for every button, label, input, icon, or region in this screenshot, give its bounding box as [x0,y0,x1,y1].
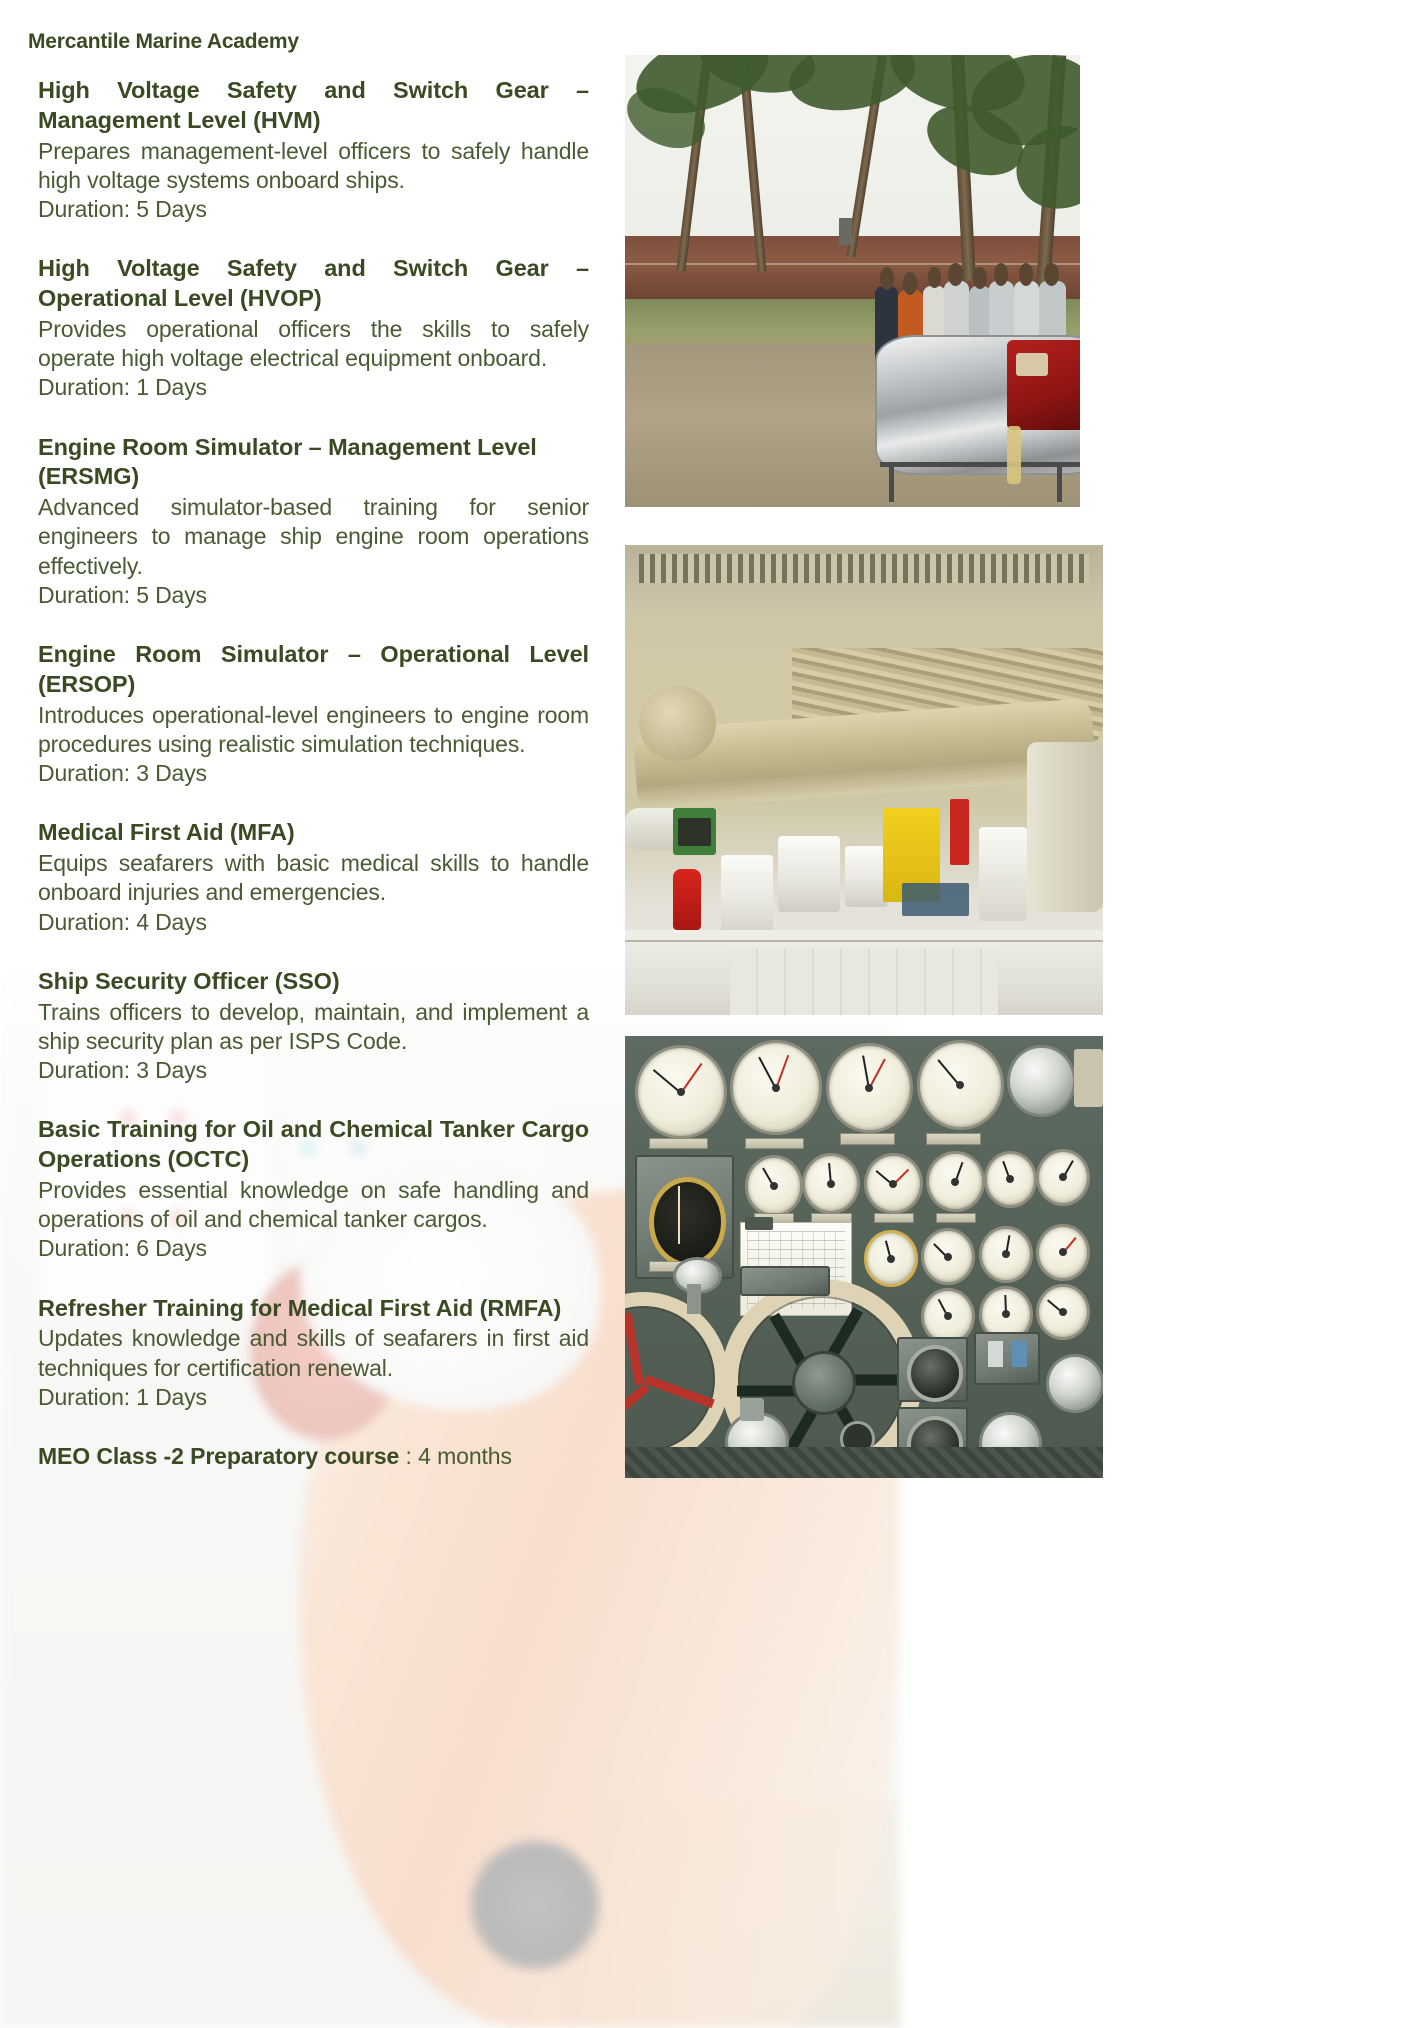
course-duration: Duration: 1 Days [38,1383,589,1412]
course-duration: Duration: 1 Days [38,373,589,402]
engine-room-pipes-photo [625,545,1103,1015]
course-item: Medical First Aid (MFA) Equips seafarers… [38,818,589,936]
course-item: Ship Security Officer (SSO) Trains offic… [38,967,589,1085]
course-duration: Duration: 4 Days [38,908,589,937]
meo-separator: : [399,1443,418,1469]
course-duration: Duration: 5 Days [38,195,589,224]
course-title: Ship Security Officer (SSO) [38,967,589,997]
trainees-outdoor-muster-photo [625,55,1080,507]
meo-course-title: MEO Class -2 Preparatory course [38,1443,399,1469]
course-duration: Duration: 3 Days [38,1056,589,1085]
gauge-panel-helm-photo [625,1036,1103,1478]
course-item: High Voltage Safety and Switch Gear – Op… [38,254,589,402]
course-description: Prepares management-level officers to sa… [38,137,589,195]
course-description: Provides operational officers the skills… [38,315,589,373]
course-title: Refresher Training for Medical First Aid… [38,1294,589,1324]
course-description: Advanced simulator-based training for se… [38,493,589,581]
course-title: High Voltage Safety and Switch Gear – Ma… [38,76,589,136]
course-title: High Voltage Safety and Switch Gear – Op… [38,254,589,314]
course-duration: Duration: 5 Days [38,581,589,610]
course-list: High Voltage Safety and Switch Gear – Ma… [38,76,589,1471]
course-duration: Duration: 6 Days [38,1234,589,1263]
page-title: Mercantile Marine Academy [28,30,299,54]
course-item-meo: MEO Class -2 Preparatory course : 4 mont… [38,1442,589,1471]
course-duration: Duration: 3 Days [38,759,589,788]
course-description: Provides essential knowledge on safe han… [38,1176,589,1234]
course-title: Basic Training for Oil and Chemical Tank… [38,1115,589,1175]
course-item: Engine Room Simulator – Management Level… [38,433,589,611]
course-description: Updates knowledge and skills of seafarer… [38,1324,589,1382]
document-page: Mercantile Marine Academy High Voltage S… [0,0,1428,2028]
course-description: Introduces operational-level engineers t… [38,701,589,759]
course-item: Basic Training for Oil and Chemical Tank… [38,1115,589,1263]
course-description: Equips seafarers with basic medical skil… [38,849,589,907]
course-item: Engine Room Simulator – Operational Leve… [38,640,589,788]
course-description: Trains officers to develop, maintain, an… [38,998,589,1056]
course-title: Medical First Aid (MFA) [38,818,589,848]
course-item: Refresher Training for Medical First Aid… [38,1294,589,1412]
course-title: Engine Room Simulator – Operational Leve… [38,640,589,700]
course-item: High Voltage Safety and Switch Gear – Ma… [38,76,589,224]
course-title: Engine Room Simulator – Management Level… [38,433,589,493]
meo-duration: 4 months [418,1443,512,1469]
